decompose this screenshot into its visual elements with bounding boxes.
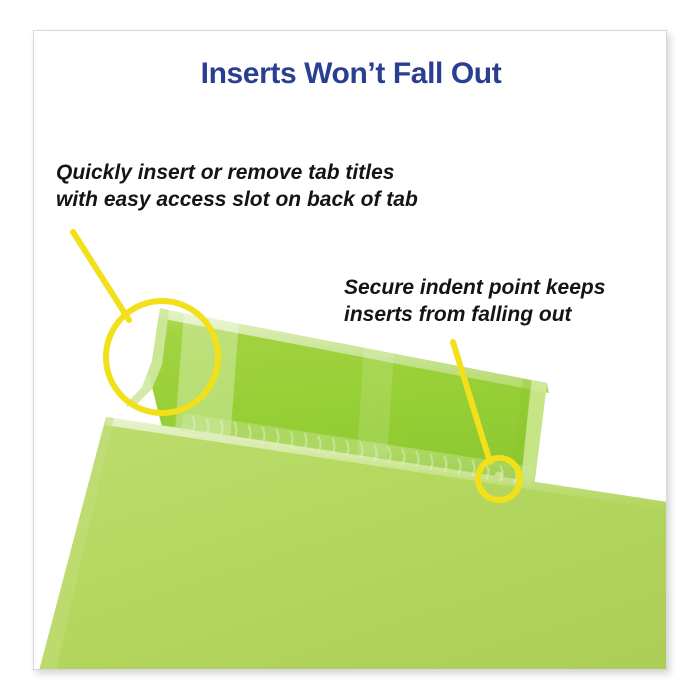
leader-line-left [73,232,129,320]
callout-indent-point: Secure indent point keeps inserts from f… [344,274,605,328]
callout-access-slot-line1: Quickly insert or remove tab titles [56,159,418,186]
screenshot-root: Inserts Won’t Fall Out Quickly insert or… [0,0,700,700]
callout-access-slot-line2: with easy access slot on back of tab [56,186,418,213]
callout-indent-point-line1: Secure indent point keeps [344,274,605,301]
product-photograph [34,31,667,670]
page-title: Inserts Won’t Fall Out [34,57,667,91]
callout-indent-point-line2: inserts from falling out [344,301,605,328]
callout-access-slot: Quickly insert or remove tab titles with… [56,159,418,213]
product-image-card: Inserts Won’t Fall Out Quickly insert or… [33,30,667,670]
